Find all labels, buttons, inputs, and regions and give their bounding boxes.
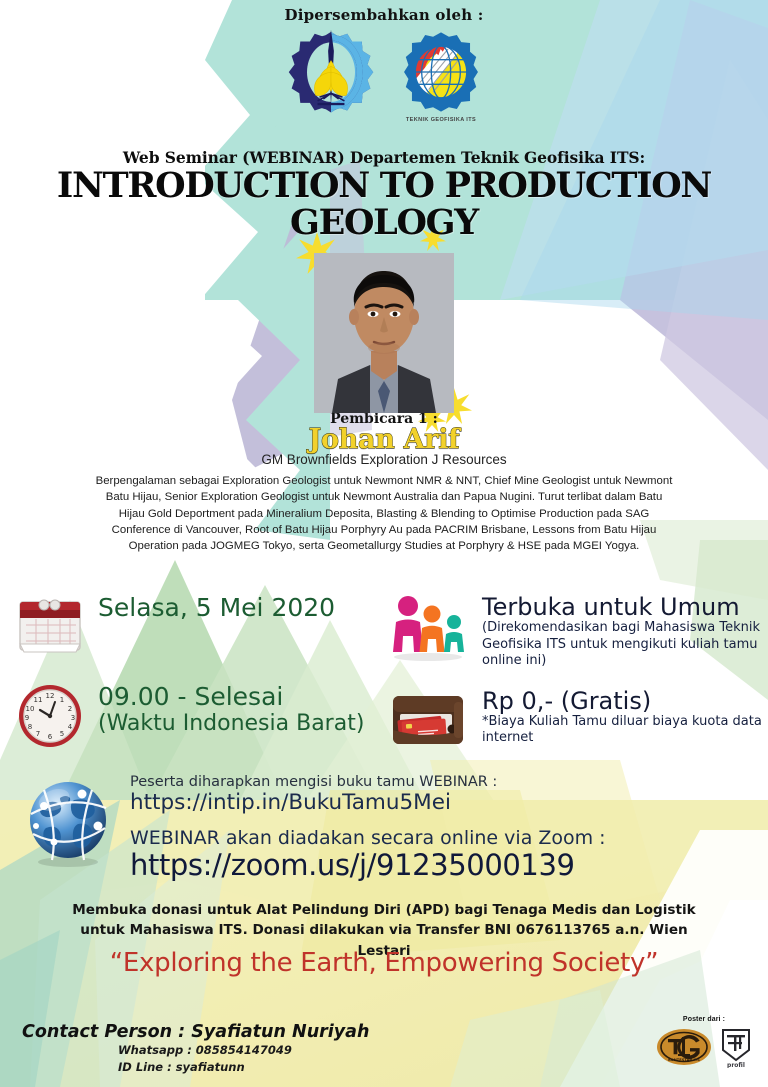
- svg-text:KONTESTAN ITS: KONTESTAN ITS: [668, 1058, 700, 1062]
- webinar-poster: Dipersembahkan oleh :: [0, 0, 768, 1087]
- price-note: *Biaya Kuliah Tamu diluar biaya kuota da…: [482, 714, 764, 747]
- svg-text:12: 12: [46, 692, 55, 700]
- its-logo: [283, 28, 379, 124]
- guestbook-url-link[interactable]: https://intip.in/BukuTamu5Mei: [130, 790, 606, 816]
- wallet-icon: [388, 686, 470, 757]
- svg-text:7: 7: [36, 730, 40, 738]
- speaker-role: GM Brownfields Exploration J Resources: [0, 452, 768, 467]
- poster-credit-label: Poster dari :: [648, 1016, 760, 1023]
- tagline: “Exploring the Earth, Empowering Society…: [0, 948, 768, 978]
- donation-line-1: Membuka donasi untuk Alat Pelindung Diri…: [70, 900, 698, 920]
- svg-text:3: 3: [71, 714, 75, 722]
- svg-text:11: 11: [34, 696, 43, 704]
- globe-network-icon: [22, 776, 114, 868]
- event-date: Selasa, 5 Mei 2020: [98, 594, 335, 622]
- teknik-geofisika-logo-group: TEKNIK GEOFISIKA ITS: [397, 28, 485, 123]
- speaker-portrait: [314, 253, 454, 413]
- contact-whatsapp: Whatsapp : 085854147049: [118, 1042, 369, 1059]
- price-value: Rp 0,- (Gratis): [482, 688, 764, 714]
- links-text: Peserta diharapkan mengisi buku tamu WEB…: [130, 770, 606, 881]
- guestbook-note: Peserta diharapkan mengisi buku tamu WEB…: [130, 774, 606, 790]
- contact-block: Contact Person : Syafiatun Nuriyah Whats…: [22, 1022, 369, 1075]
- teknik-geofisika-its-logo: [397, 28, 485, 116]
- svg-text:1: 1: [60, 696, 64, 704]
- event-time: 09.00 - Selesai: [98, 683, 364, 711]
- speaker-bio: Berpengalaman sebagai Exploration Geolog…: [92, 473, 676, 554]
- speaker-name: Johan Arif: [0, 426, 768, 454]
- contact-person: Contact Person : Syafiatun Nuriyah: [22, 1022, 369, 1042]
- svg-text:6: 6: [48, 733, 53, 741]
- calendar-icon: [14, 592, 86, 665]
- svg-text:10: 10: [26, 705, 35, 713]
- svg-text:5: 5: [60, 730, 64, 738]
- zoom-note: WEBINAR akan diadakan secara online via …: [130, 827, 606, 849]
- presented-by-label: Dipersembahkan oleh :: [0, 6, 768, 24]
- people-group-icon: [388, 592, 470, 667]
- price-row: Rp 0,- (Gratis) *Biaya Kuliah Tamu dilua…: [388, 686, 764, 757]
- clock-icon: 1212 345 678 91011: [14, 681, 86, 756]
- svg-text:4: 4: [68, 723, 73, 731]
- date-row: Selasa, 5 Mei 2020: [14, 592, 384, 665]
- audience-note: (Direkomendasikan bagi Mahasiswa Teknik …: [482, 620, 764, 669]
- organizer-logos: TEKNIK GEOFISIKA ITS: [0, 28, 768, 124]
- contact-id-line: ID Line : syafiatunn: [118, 1059, 369, 1076]
- registration-links: Peserta diharapkan mengisi buku tamu WEB…: [22, 770, 752, 881]
- event-timezone: (Waktu Indonesia Barat): [98, 711, 364, 736]
- tg-kontestan-logo: KONTESTAN ITS: [656, 1027, 712, 1072]
- event-details-right: Terbuka untuk Umum (Direkomendasikan bag…: [388, 592, 764, 757]
- time-row: 1212 345 678 91011 09.00 - Selesai (Wakt…: [14, 681, 384, 756]
- svg-text:9: 9: [25, 714, 29, 722]
- svg-text:8: 8: [28, 723, 32, 731]
- audience-title: Terbuka untuk Umum: [482, 594, 764, 620]
- zoom-url-link[interactable]: https://zoom.us/j/91235000139: [130, 849, 606, 881]
- profil-logo: profil: [719, 1026, 753, 1073]
- event-details-left: Selasa, 5 Mei 2020 1212 345 678 91011: [14, 592, 384, 756]
- teknik-geofisika-caption: TEKNIK GEOFISIKA ITS: [406, 117, 476, 123]
- page-title: INTRODUCTION TO PRODUCTION GEOLOGY: [0, 168, 768, 242]
- svg-text:profil: profil: [727, 1062, 745, 1068]
- poster-credit-block: Poster dari : KONTESTAN ITS: [648, 1016, 760, 1073]
- audience-row: Terbuka untuk Umum (Direkomendasikan bag…: [388, 592, 764, 670]
- svg-text:2: 2: [68, 705, 72, 713]
